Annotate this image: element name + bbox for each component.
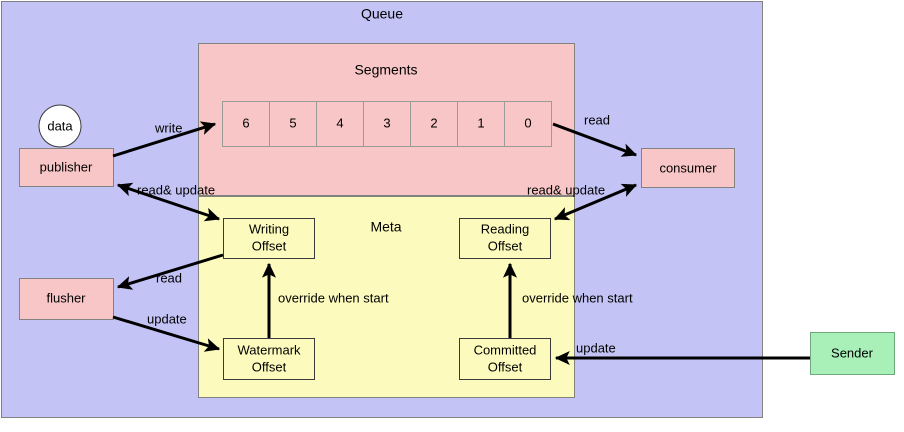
segment-cell-label: 1: [477, 115, 484, 130]
watermark-offset-label-line2: Offset: [252, 359, 287, 374]
segment-cell[interactable]: 5: [270, 102, 317, 147]
queue-architecture-diagram: Queue Segments 6 5 4 3 2 1: [0, 0, 904, 432]
consumer-node-label: consumer: [659, 160, 717, 175]
edge-override-left-label: override when start: [278, 290, 389, 305]
sender-node-label: Sender: [831, 345, 874, 360]
edge-read-label: read: [584, 112, 610, 127]
segment-cell-label: 3: [383, 115, 390, 130]
meta-title: Meta: [370, 219, 401, 235]
queue-title: Queue: [361, 6, 403, 22]
watermark-offset-label-line1: Watermark: [237, 342, 301, 357]
edge-flusher-read-label: read: [156, 270, 182, 285]
reading-offset-box[interactable]: Reading Offset: [460, 219, 551, 259]
committed-offset-label-line2: Offset: [488, 359, 523, 374]
watermark-offset-box[interactable]: Watermark Offset: [224, 339, 315, 380]
segment-cell[interactable]: 3: [364, 102, 411, 147]
writing-offset-label-line1: Writing: [249, 221, 289, 236]
segment-cell[interactable]: 6: [223, 102, 270, 147]
segment-cell-label: 4: [336, 115, 343, 130]
segment-cell[interactable]: 1: [458, 102, 505, 147]
reading-offset-label-line2: Offset: [488, 238, 523, 253]
sender-node[interactable]: Sender: [811, 333, 895, 375]
flusher-node[interactable]: flusher: [20, 279, 114, 320]
segment-cell-list: 6 5 4 3 2 1 0: [223, 102, 552, 147]
committed-offset-label-line1: Committed: [474, 342, 537, 357]
publisher-node[interactable]: publisher: [20, 149, 114, 187]
segment-cell[interactable]: 0: [505, 102, 552, 147]
edge-flusher-update-label: update: [147, 311, 187, 326]
segment-cell[interactable]: 4: [317, 102, 364, 147]
segments-title: Segments: [354, 62, 417, 78]
edge-override-right-label: override when start: [522, 290, 633, 305]
writing-offset-box[interactable]: Writing Offset: [224, 219, 315, 259]
edge-publisher-meta-label: read& update: [137, 182, 215, 197]
data-node[interactable]: data: [39, 105, 81, 147]
edge-write-label: write: [154, 120, 182, 135]
data-node-label: data: [47, 118, 73, 133]
flusher-node-label: flusher: [46, 290, 86, 305]
consumer-node[interactable]: consumer: [642, 149, 735, 188]
edge-consumer-meta-label: read& update: [527, 182, 605, 197]
reading-offset-label-line1: Reading: [481, 221, 529, 236]
segment-cell-label: 0: [524, 115, 531, 130]
committed-offset-box[interactable]: Committed Offset: [460, 339, 551, 380]
edge-sender-update-label: update: [576, 340, 616, 355]
segment-cell-label: 5: [289, 115, 296, 130]
segment-cell-label: 6: [242, 115, 249, 130]
writing-offset-label-line2: Offset: [252, 238, 287, 253]
publisher-node-label: publisher: [40, 159, 93, 174]
segment-cell-label: 2: [430, 115, 437, 130]
segment-cell[interactable]: 2: [411, 102, 458, 147]
